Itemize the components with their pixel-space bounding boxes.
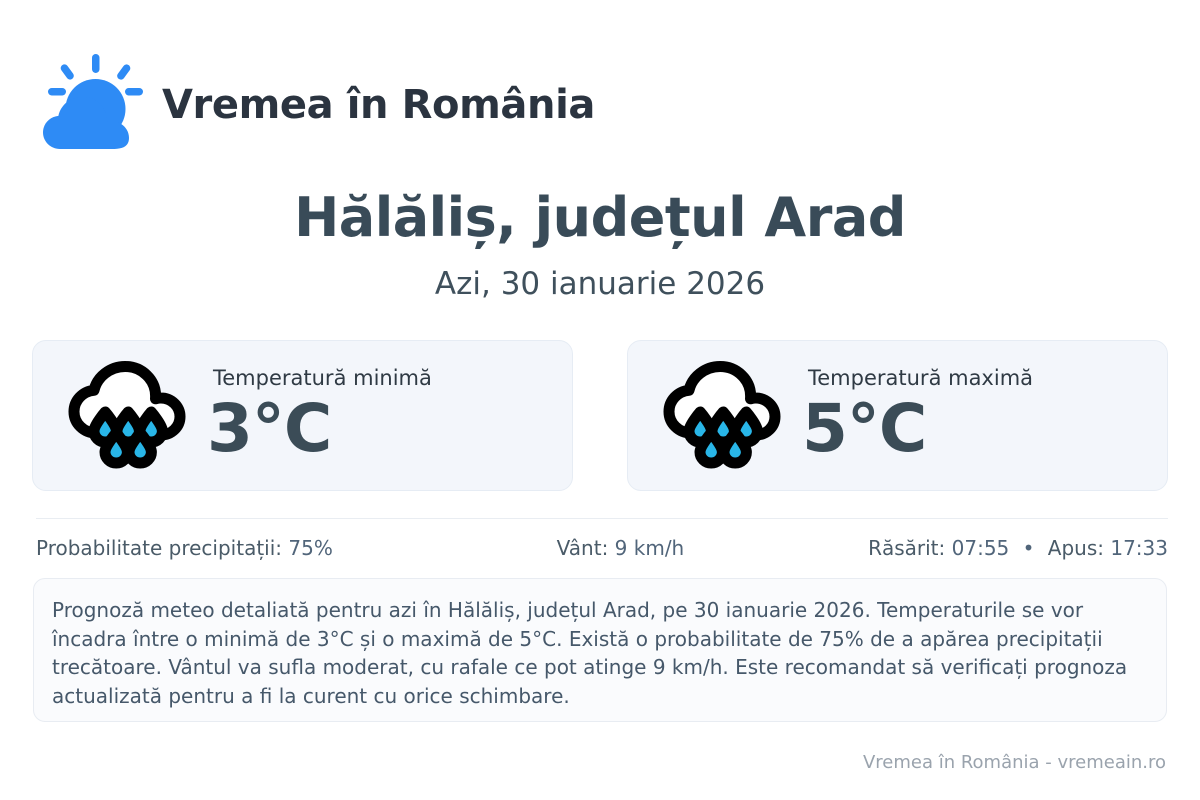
precipitation-stat: Probabilitate precipitații: 75% bbox=[36, 536, 333, 560]
page-subtitle: Azi, 30 ianuarie 2026 bbox=[0, 266, 1200, 302]
stats-divider bbox=[36, 518, 1168, 519]
brand-logo[interactable]: Vremea în România bbox=[36, 52, 595, 158]
max-temperature-card: Temperatură maximă 5°C bbox=[627, 340, 1168, 491]
precipitation-label: Probabilitate precipitații: bbox=[36, 536, 282, 560]
min-temperature-text: Temperatură minimă 3°C bbox=[207, 366, 432, 464]
temperature-cards: Temperatură minimă 3°C Temperatură maxim… bbox=[32, 340, 1168, 491]
min-temperature-label: Temperatură minimă bbox=[213, 366, 432, 391]
page-title: Hălăliș, județul Arad bbox=[0, 186, 1200, 249]
max-temperature-label: Temperatură maximă bbox=[808, 366, 1033, 391]
stats-row: Probabilitate precipitații: 75% Vânt: 9 … bbox=[36, 536, 1168, 560]
wind-stat: Vânt: 9 km/h bbox=[333, 536, 868, 560]
sun-times-stat: Răsărit: 07:55 • Apus: 17:33 bbox=[868, 536, 1168, 560]
sunset-value: 17:33 bbox=[1110, 536, 1168, 560]
footer-credit: Vremea în România - vremeain.ro bbox=[863, 752, 1166, 773]
rain-cloud-icon bbox=[658, 360, 784, 472]
rain-cloud-icon bbox=[63, 360, 189, 472]
brand-name: Vremea în România bbox=[162, 83, 595, 128]
weather-page: Vremea în România Hălăliș, județul Arad … bbox=[0, 0, 1200, 800]
sun-times-separator: • bbox=[1016, 536, 1042, 560]
sun-behind-cloud-icon bbox=[36, 52, 146, 158]
min-temperature-card: Temperatură minimă 3°C bbox=[32, 340, 573, 491]
max-temperature-text: Temperatură maximă 5°C bbox=[802, 366, 1033, 464]
max-temperature-value: 5°C bbox=[802, 393, 1033, 464]
min-temperature-value: 3°C bbox=[207, 393, 432, 464]
precipitation-value: 75% bbox=[288, 536, 332, 560]
sunset-label: Apus: bbox=[1048, 536, 1104, 560]
sunrise-label: Răsărit: bbox=[868, 536, 945, 560]
wind-label: Vânt: bbox=[557, 536, 609, 560]
wind-value: 9 km/h bbox=[615, 536, 685, 560]
forecast-description: Prognoză meteo detaliată pentru azi în H… bbox=[33, 578, 1167, 722]
sunrise-value: 07:55 bbox=[952, 536, 1010, 560]
